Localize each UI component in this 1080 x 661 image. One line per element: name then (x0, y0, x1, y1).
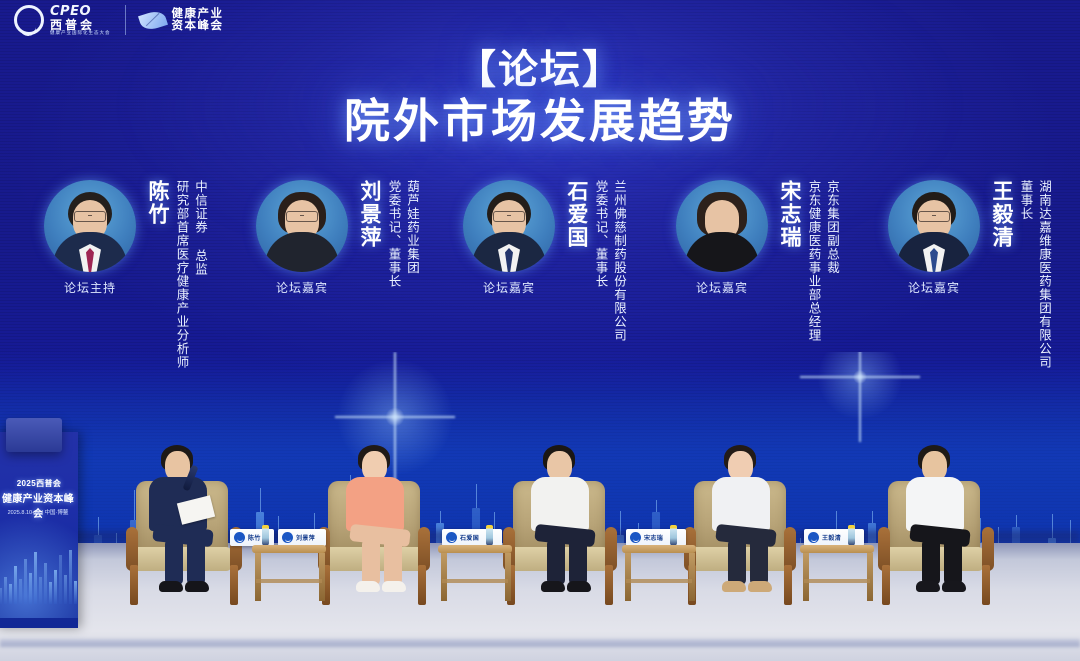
leaf-logo-icon (138, 8, 168, 32)
table-top (800, 545, 874, 553)
banner-chart-bar (54, 570, 57, 604)
seated-panelist (517, 443, 607, 593)
banner-chart-bar (0, 588, 2, 604)
cpeo-ring-logo-icon (630, 532, 641, 543)
panelist-role: 论坛主持 (64, 279, 116, 296)
banner-chart-bar (29, 573, 32, 604)
panelist-leg (728, 539, 746, 585)
panelist-name: 陈竹 (146, 180, 168, 226)
side-table: 宋志瑞 (622, 545, 698, 603)
podium (6, 418, 62, 452)
table-leg (867, 553, 873, 601)
table-leg (505, 553, 511, 601)
panelist-affiliation-col: 京东集团副总裁 (824, 180, 841, 342)
nameplate-text: 陈竹 (248, 533, 261, 542)
table-leg (319, 553, 325, 601)
table-top (622, 545, 696, 553)
panelist-name: 石爱国 (565, 180, 587, 249)
health-capital-line2: 资本峰会 (172, 20, 224, 32)
banner-chart-bar (69, 550, 72, 604)
panelist-role: 论坛嘉宾 (696, 279, 748, 296)
banner-line1: 2025西普会 (2, 478, 76, 489)
panelist-portrait-block: 论坛主持 (36, 180, 144, 296)
panelist-leg (362, 539, 380, 585)
panelist-seat (686, 435, 794, 605)
panelist-affiliation: 葫芦娃药业集团 党委书记、董事长 (383, 180, 420, 288)
forum-title: 【论坛】 院外市场发展趋势 (0, 48, 1080, 148)
panelist-name: 刘景萍 (358, 180, 380, 249)
panelist-affiliation-col: 京东健康医药事业部总经理 (805, 180, 822, 342)
panelist-leg (384, 539, 402, 585)
banner-chart-bar (14, 566, 17, 604)
water-bottle (262, 525, 269, 546)
panelist-torso (906, 477, 964, 531)
cpeo-ring-logo-icon (14, 5, 44, 35)
panelist-avatar (676, 180, 768, 272)
panelist-name: 王毅清 (990, 180, 1012, 249)
panelist-shoe (748, 581, 772, 592)
panelist-torso (346, 477, 404, 531)
panelist-affiliation-col: 党委书记、董事长 (592, 180, 609, 342)
chair-leg (230, 565, 238, 605)
table-leg (441, 553, 447, 601)
water-bottle (848, 525, 855, 546)
panelist-avatar (44, 180, 136, 272)
forum-title-line2: 院外市场发展趋势 (0, 95, 1080, 148)
panelist-card: 论坛嘉宾 刘景萍 葫芦娃药业集团 党委书记、董事长 (248, 180, 420, 296)
table-leg (803, 553, 809, 601)
banner-chart-bar (74, 581, 77, 604)
panelist-affiliation-col: 董事长 (1017, 180, 1034, 369)
panelist-card-row: 论坛主持 陈竹 中信证券 总监 研究部首席医疗健康产业分析师 论坛嘉宾 刘景萍 … (0, 180, 1080, 430)
panelist-seat (880, 435, 992, 605)
panelist-role: 论坛嘉宾 (276, 279, 328, 296)
logo-divider (125, 5, 126, 35)
panelist-shoe (185, 581, 209, 592)
cpeo-logo: CPEO 西普会 健康产业国际化生态大会 (14, 5, 111, 36)
panelist-name: 宋志瑞 (778, 180, 800, 249)
cpeo-ring-logo-icon (234, 532, 245, 543)
panelist-leg (922, 539, 940, 585)
banner-chart-bar (59, 555, 62, 604)
health-capital-line1: 健康产业 (172, 8, 224, 20)
table-rail (442, 579, 508, 583)
nameplate: 王毅清 (804, 529, 864, 546)
panelist-affiliation-col: 党委书记、董事长 (385, 180, 402, 288)
nameplate: 宋志瑞 (626, 529, 686, 546)
panelist-shoe (356, 581, 380, 592)
chart-wick (1016, 515, 1017, 527)
table-rail (804, 579, 870, 583)
panelist-portrait-block: 论坛嘉宾 (455, 180, 563, 296)
chart-wick (260, 488, 261, 512)
nameplate: 刘景萍 (278, 529, 326, 546)
panelist-seat (320, 435, 428, 605)
table-leg (689, 553, 695, 601)
event-logos: CPEO 西普会 健康产业国际化生态大会 健康产业 资本峰会 (14, 5, 224, 36)
panelist-affiliation: 湖南达嘉维康医药集团有限公司 董事长 (1015, 180, 1052, 369)
panelist-portrait-block: 论坛嘉宾 (880, 180, 988, 296)
banner-chart-graphic (0, 534, 78, 604)
cpeo-ring-logo-icon (808, 532, 819, 543)
panelist-shoe (382, 581, 406, 592)
seated-panelist (892, 443, 984, 593)
cpeo-ring-logo-icon (282, 532, 293, 543)
chart-wick (476, 484, 477, 508)
nameplate-text: 王毅清 (822, 533, 841, 542)
panelist-affiliation-col: 葫芦娃药业集团 (404, 180, 421, 288)
panelist-leg (547, 539, 565, 585)
banner-chart-bar (9, 584, 12, 604)
nameplate-text: 石爱国 (460, 533, 479, 542)
banner-chart-bar (24, 559, 27, 604)
table-leg (625, 553, 631, 601)
side-table: 王毅清 (800, 545, 876, 603)
panelist-shoe (722, 581, 746, 592)
table-top (438, 545, 512, 553)
banner-chart-bar (44, 563, 47, 604)
panelist-affiliation-col: 中信证券 总监 (192, 180, 209, 369)
panelist-avatar (463, 180, 555, 272)
panelist-affiliation-col: 湖南达嘉维康医药集团有限公司 (1036, 180, 1053, 369)
panelist-torso (531, 477, 589, 531)
panelist-affiliation: 中信证券 总监 研究部首席医疗健康产业分析师 (171, 180, 208, 369)
cpeo-ring-logo-icon (446, 532, 457, 543)
panelist-affiliation-col: 兰州佛慈制药股份有限公司 (611, 180, 628, 342)
panelist-shoe (159, 581, 183, 592)
panelist-avatar (888, 180, 980, 272)
banner-chart-bar (39, 577, 42, 604)
table-top (252, 545, 326, 553)
side-table: 陈竹 刘景萍 (252, 545, 328, 603)
banner-chart-bar (49, 582, 52, 604)
panelist-seat (128, 435, 240, 605)
panelist-shoe (541, 581, 565, 592)
chair-leg (882, 565, 890, 605)
rollup-banner: 2025西普会 健康产业资本峰会 2025.8.10-12 | 中国·博鳌 (0, 432, 78, 628)
table-leg (255, 553, 261, 601)
health-capital-logo: 健康产业 资本峰会 (140, 8, 224, 33)
stage-floor-edge (0, 639, 1080, 647)
water-bottle (670, 525, 677, 546)
banner-chart-bar (4, 577, 7, 604)
seated-panelist (332, 443, 420, 593)
panelist-card: 论坛嘉宾 石爱国 兰州佛慈制药股份有限公司 党委书记、董事长 (455, 180, 627, 342)
water-bottle (486, 525, 493, 546)
panelist-leg (187, 539, 205, 585)
panelist-leg (165, 539, 183, 585)
banner-line3: 2025.8.10-12 | 中国·博鳌 (0, 508, 78, 516)
chart-wick (440, 511, 441, 523)
chart-wick (656, 500, 657, 512)
panelist-torso (712, 477, 770, 531)
panelist-role: 论坛嘉宾 (483, 279, 535, 296)
conference-stage-photo: CPEO 西普会 健康产业国际化生态大会 健康产业 资本峰会 【论坛】 院外市场… (0, 0, 1080, 661)
panelist-seat (505, 435, 615, 605)
panelist-card: 论坛嘉宾 王毅清 湖南达嘉维康医药集团有限公司 董事长 (880, 180, 1052, 369)
banner-chart-bar (34, 552, 37, 604)
cpeo-logo-sub: 健康产业国际化生态大会 (50, 31, 111, 36)
panelist-shoe (567, 581, 591, 592)
seated-panelist (698, 443, 786, 593)
panelist-card: 论坛嘉宾 宋志瑞 京东集团副总裁 京东健康医药事业部总经理 (668, 180, 840, 342)
side-table: 石爱国 (438, 545, 514, 603)
panelist-leg (750, 539, 768, 585)
banner-chart-bar (64, 575, 67, 604)
seated-panelist (135, 443, 227, 593)
nameplate: 石爱国 (442, 529, 502, 546)
chart-wick (872, 511, 873, 523)
panelist-portrait-block: 论坛嘉宾 (668, 180, 776, 296)
table-rail (626, 579, 692, 583)
panelist-portrait-block: 论坛嘉宾 (248, 180, 356, 296)
panelist-shoe (942, 581, 966, 592)
nameplate-text: 宋志瑞 (644, 533, 663, 542)
panelist-card: 论坛主持 陈竹 中信证券 总监 研究部首席医疗健康产业分析师 (36, 180, 208, 369)
nameplate-text: 刘景萍 (296, 533, 315, 542)
forum-title-line1: 【论坛】 (0, 48, 1080, 93)
table-rail (256, 579, 322, 583)
panelist-role: 论坛嘉宾 (908, 279, 960, 296)
panelist-affiliation-col: 研究部首席医疗健康产业分析师 (173, 180, 190, 369)
cpeo-logo-en: CPEO (50, 5, 111, 19)
panelist-affiliation: 兰州佛慈制药股份有限公司 党委书记、董事长 (590, 180, 627, 342)
banner-chart-bar (19, 579, 22, 604)
panelist-leg (569, 539, 587, 585)
panelist-shoe (916, 581, 940, 592)
panelist-affiliation: 京东集团副总裁 京东健康医药事业部总经理 (803, 180, 840, 342)
panelist-leg (944, 539, 962, 585)
panelist-avatar (256, 180, 348, 272)
